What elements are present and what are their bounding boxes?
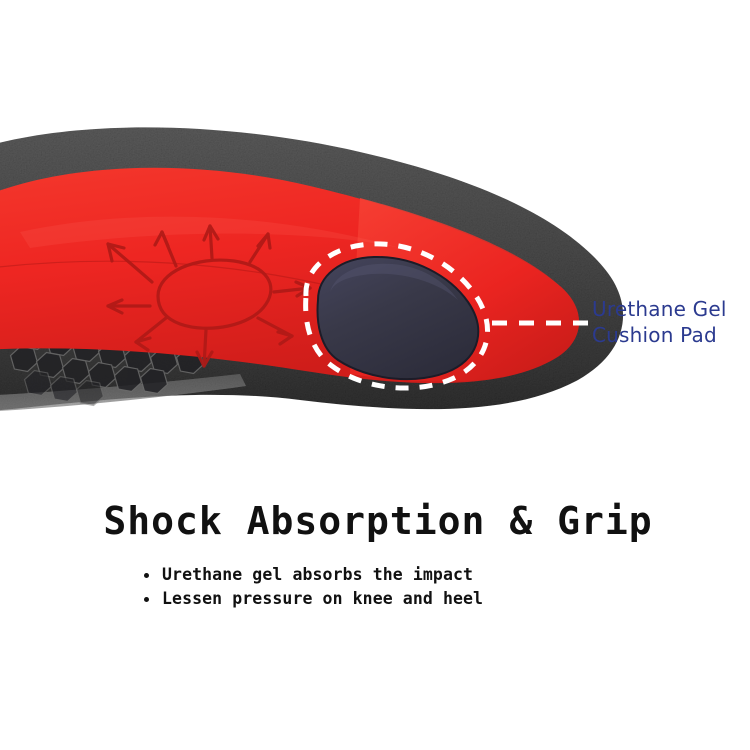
callout-line-1: Urethane Gel <box>592 296 727 322</box>
callout-line-2: Cushion Pad <box>592 322 727 348</box>
infographic-page: Urethane Gel Cushion Pad Shock Absorptio… <box>0 0 750 750</box>
page-title: Shock Absorption & Grip <box>0 495 750 547</box>
insole-illustration <box>0 0 750 470</box>
urethane-gel-callout: Urethane Gel Cushion Pad <box>592 296 727 348</box>
list-item: Lessen pressure on knee and heel <box>140 587 540 611</box>
benefit-list: Urethane gel absorbs the impact Lessen p… <box>140 563 540 611</box>
text-block: Shock Absorption & Grip Urethane gel abs… <box>0 495 750 611</box>
list-item: Urethane gel absorbs the impact <box>140 563 540 587</box>
insole-vector <box>0 0 750 470</box>
